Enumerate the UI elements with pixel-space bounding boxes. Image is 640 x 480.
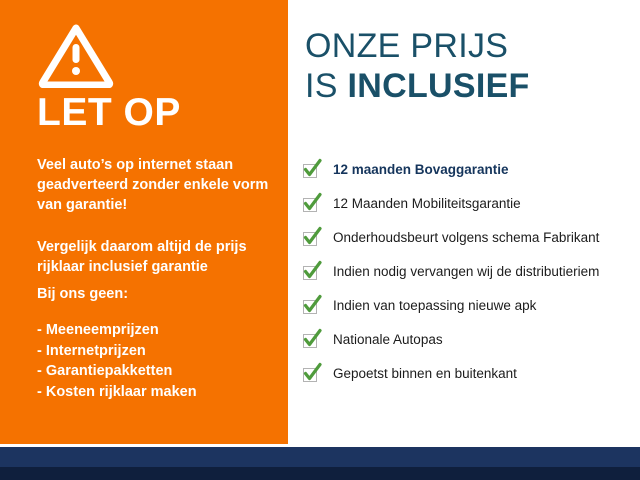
list-item: 12 maanden Bovaggarantie [303,153,638,187]
inclusive-panel: ONZE PRIJS IS INCLUSIEF 12 maanden Bovag… [288,0,640,444]
checklist-item-label: Gepoetst binnen en buitenkant [333,366,517,382]
inclusive-checklist: 12 maanden Bovaggarantie 12 Maanden Mobi… [303,153,638,391]
promo-banner: LET OP Veel auto’s op internet staan gea… [0,0,640,480]
footer-bar [0,447,640,467]
checklist-item-label: 12 Maanden Mobiliteitsgarantie [333,196,521,212]
checklist-item-label: Indien nodig vervangen wij de distributi… [333,264,599,280]
footer-bar-shadow [0,467,640,480]
list-item: Indien van toepassing nieuwe apk [303,289,638,323]
list-item: 12 Maanden Mobiliteitsgarantie [303,187,638,221]
list-item: Nationale Autopas [303,323,638,357]
headline-emphasis: INCLUSIEF [347,67,529,105]
page-title: LET OP [37,92,181,134]
list-item: Gepoetst binnen en buitenkant [303,357,638,391]
checkmark-icon [303,298,320,315]
checklist-item-label: 12 maanden Bovaggarantie [333,162,509,178]
checklist-item-label: Indien van toepassing nieuwe apk [333,298,536,314]
checkmark-icon [303,264,320,281]
warning-paragraph: Veel auto’s op internet staan geadvertee… [37,155,273,215]
headline-line-1: ONZE PRIJS [305,26,530,66]
checkmark-icon [303,196,320,213]
warning-triangle-icon [38,22,114,88]
checkmark-icon [303,162,320,179]
list-item: Indien nodig vervangen wij de distributi… [303,255,638,289]
list-item: - Internetprijzen [37,341,273,362]
list-item: - Kosten rijklaar maken [37,382,273,403]
headline-line-2: IS INCLUSIEF [305,66,530,106]
checkmark-icon [303,332,320,349]
warning-panel: LET OP Veel auto’s op internet staan gea… [0,0,288,444]
exclusions-heading: Bij ons geen: [37,284,273,304]
list-item: - Garantiepakketten [37,361,273,382]
compare-paragraph: Vergelijk daarom altijd de prijs rijklaa… [37,237,273,277]
checkmark-icon [303,366,320,383]
exclusions-list: - Meeneemprijzen - Internetprijzen - Gar… [37,320,273,402]
list-item: Onderhoudsbeurt volgens schema Fabrikant [303,221,638,255]
headline-prefix: IS [305,67,347,105]
list-item: - Meeneemprijzen [37,320,273,341]
headline: ONZE PRIJS IS INCLUSIEF [305,26,530,106]
checklist-item-label: Nationale Autopas [333,332,443,348]
checkmark-icon [303,230,320,247]
checklist-item-label: Onderhoudsbeurt volgens schema Fabrikant [333,230,599,246]
